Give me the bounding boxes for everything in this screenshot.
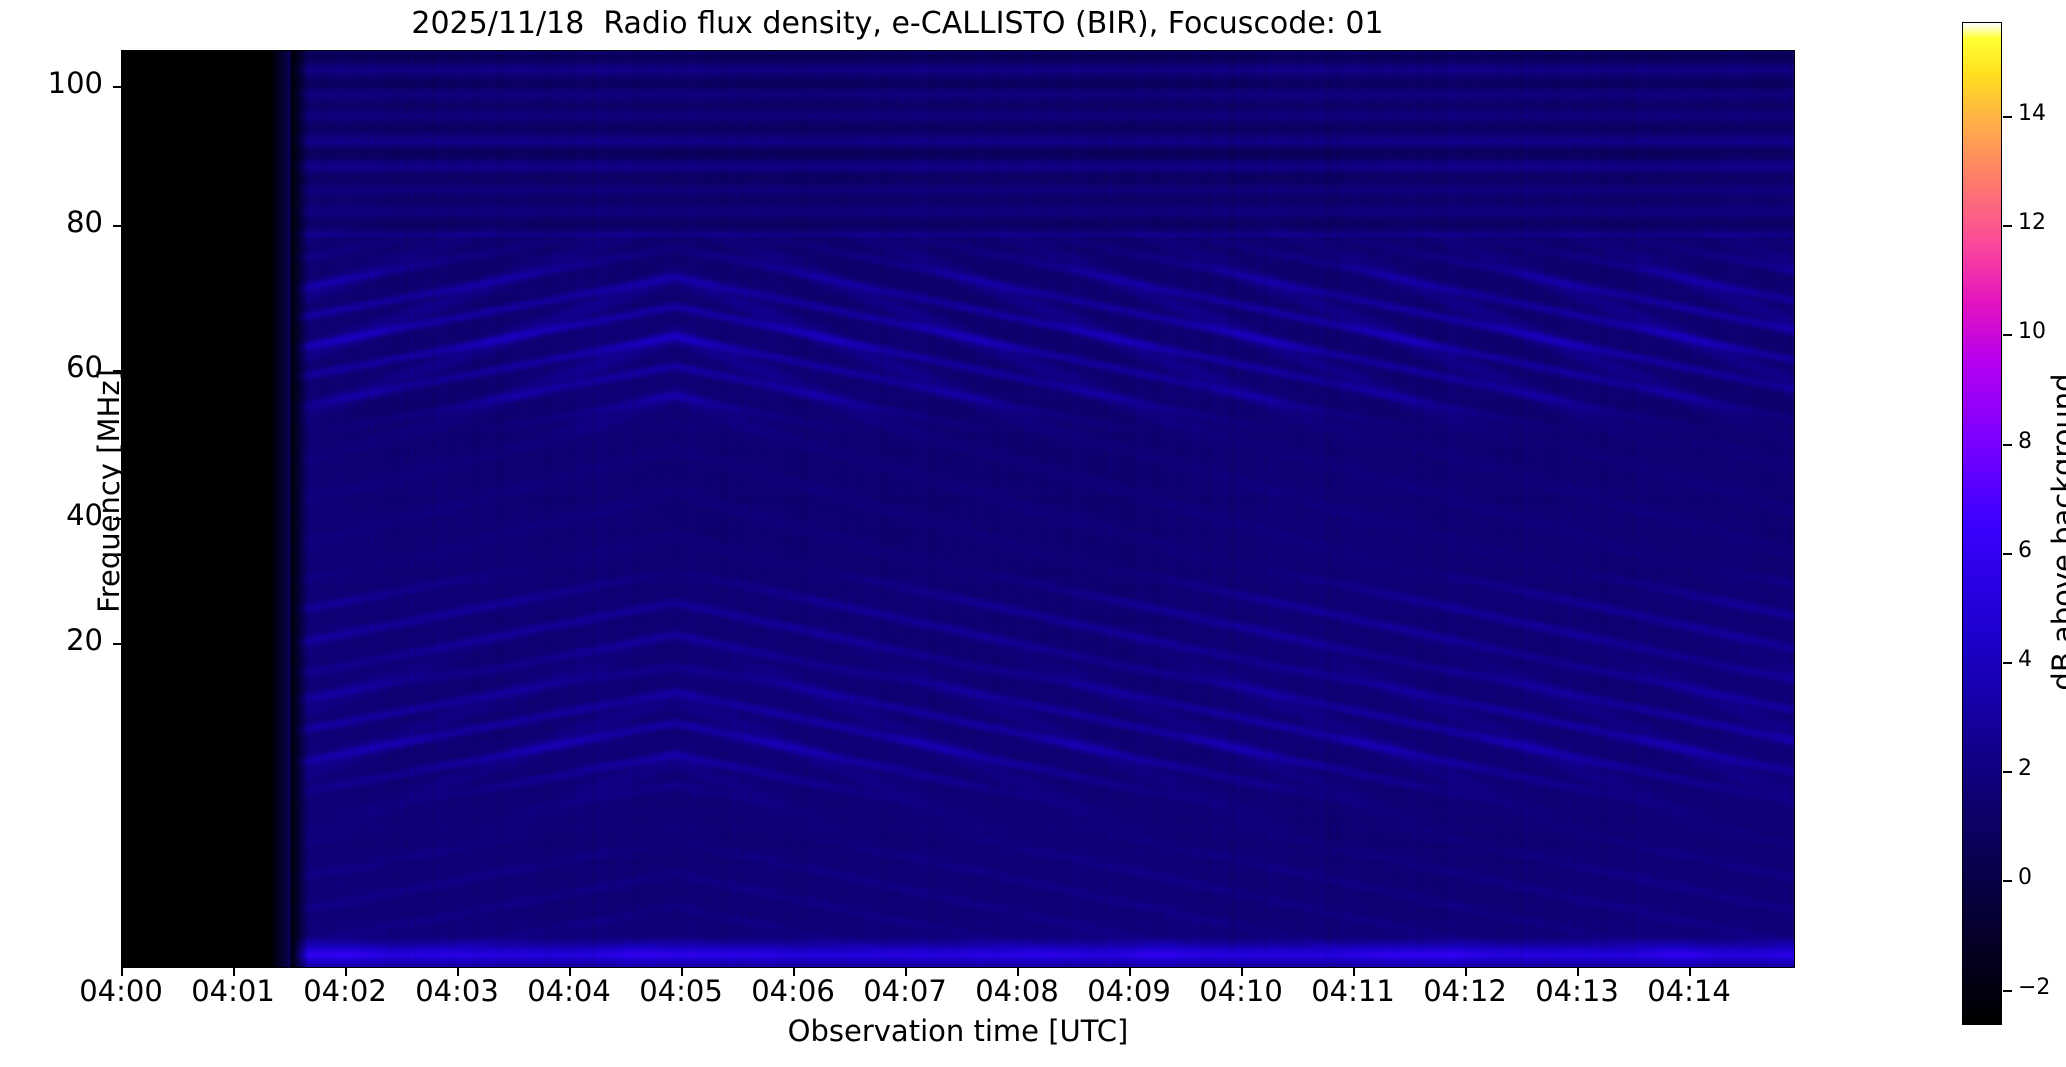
- colorbar-tick-label: 12: [2018, 210, 2046, 235]
- colorbar-tick-mark: [2003, 662, 2012, 664]
- y-tick-mark: [113, 86, 121, 88]
- x-tick-label: 04:05: [621, 974, 741, 1008]
- x-tick-label: 04:08: [957, 974, 1077, 1008]
- y-tick-label: 60: [0, 350, 103, 384]
- colorbar-tick-label: −2: [2018, 975, 2050, 1000]
- spectrogram-figure: 2025/11/18 Radio flux density, e-CALLIST…: [0, 0, 2066, 1067]
- colorbar[interactable]: [1962, 22, 2002, 1025]
- y-tick-mark: [113, 370, 121, 372]
- y-tick-mark: [113, 518, 121, 520]
- colorbar-label: dB above background: [2046, 182, 2066, 882]
- y-tick-label: 40: [0, 498, 103, 532]
- colorbar-tick-label: 6: [2018, 538, 2032, 563]
- colorbar-gradient: [1962, 22, 2002, 1025]
- x-tick-label: 04:09: [1069, 974, 1189, 1008]
- y-tick-label: 20: [0, 623, 103, 657]
- x-tick-label: 04:01: [173, 974, 293, 1008]
- page-title: 2025/11/18 Radio flux density, e-CALLIST…: [0, 6, 1795, 41]
- x-tick-label: 04:06: [733, 974, 853, 1008]
- x-tick-label: 04:02: [285, 974, 405, 1008]
- x-tick-label: 04:07: [845, 974, 965, 1008]
- colorbar-tick-label: 10: [2018, 319, 2046, 344]
- x-tick-label: 04:00: [61, 974, 181, 1008]
- y-tick-label: 80: [0, 205, 103, 239]
- colorbar-tick-mark: [2003, 225, 2012, 227]
- colorbar-tick-mark: [2003, 990, 2012, 992]
- x-tick-label: 04:03: [397, 974, 517, 1008]
- x-tick-label: 04:04: [509, 974, 629, 1008]
- colorbar-tick-label: 8: [2018, 429, 2032, 454]
- colorbar-tick-mark: [2003, 880, 2012, 882]
- colorbar-tick-label: 4: [2018, 647, 2032, 672]
- y-tick-label: 100: [0, 66, 103, 100]
- colorbar-tick-mark: [2003, 553, 2012, 555]
- x-tick-label: 04:14: [1629, 974, 1749, 1008]
- colorbar-tick-label: 14: [2018, 101, 2046, 126]
- x-tick-label: 04:13: [1517, 974, 1637, 1008]
- x-tick-label: 04:11: [1293, 974, 1413, 1008]
- y-tick-mark: [113, 225, 121, 227]
- colorbar-tick-label: 2: [2018, 756, 2032, 781]
- colorbar-tick-mark: [2003, 771, 2012, 773]
- spectrogram-axes[interactable]: [121, 50, 1795, 968]
- spectrogram-image[interactable]: [122, 51, 1795, 968]
- colorbar-tick-label: 0: [2018, 865, 2032, 890]
- colorbar-tick-mark: [2003, 116, 2012, 118]
- y-tick-mark: [113, 643, 121, 645]
- colorbar-tick-mark: [2003, 444, 2012, 446]
- x-axis-label: Observation time [UTC]: [121, 1014, 1795, 1048]
- colorbar-tick-mark: [2003, 334, 2012, 336]
- x-tick-label: 04:10: [1181, 974, 1301, 1008]
- x-tick-label: 04:12: [1405, 974, 1525, 1008]
